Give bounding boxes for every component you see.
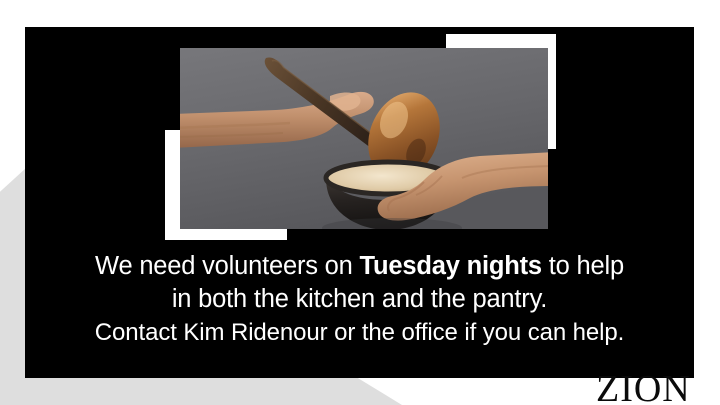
caption-line-3: Contact Kim Ridenour or the office if yo… — [25, 316, 694, 350]
caption-line-1-before: We need volunteers on — [95, 252, 359, 280]
zion-logo: ZION — [596, 370, 691, 405]
caption-line-1-after: to help — [542, 252, 624, 280]
soup-kitchen-illustration — [180, 48, 548, 229]
caption-line-1: We need volunteers on Tuesday nights to … — [25, 250, 694, 283]
caption-line-1-emphasis: Tuesday nights — [360, 252, 542, 280]
decorative-grey-band-bottom — [0, 378, 402, 405]
soup-kitchen-photo — [180, 48, 548, 229]
caption-line-2: in both the kitchen and the pantry. — [25, 283, 694, 316]
decorative-grey-band-left — [0, 168, 26, 405]
caption-block: We need volunteers on Tuesday nights to … — [25, 250, 694, 350]
announcement-slide: We need volunteers on Tuesday nights to … — [0, 0, 720, 405]
